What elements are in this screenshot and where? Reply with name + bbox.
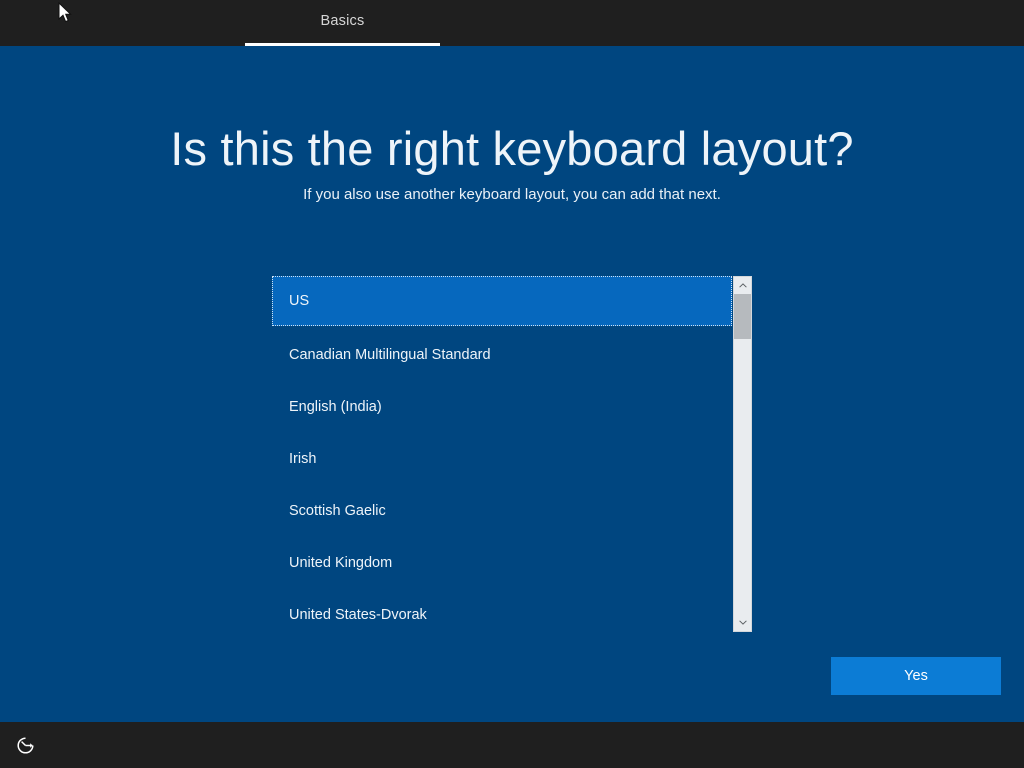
keyboard-layout-listbox[interactable]: US Canadian Multilingual Standard Englis… — [272, 276, 752, 632]
arrow-pointer-cursor — [58, 2, 72, 24]
scroll-down-button[interactable] — [734, 614, 751, 631]
tab-basics[interactable]: Basics — [245, 0, 440, 46]
page-title: Is this the right keyboard layout? — [0, 122, 1024, 176]
scrollbar-thumb[interactable] — [734, 294, 751, 339]
list-item[interactable]: United Kingdom — [272, 538, 732, 588]
list-item[interactable]: United States-Dvorak — [272, 590, 732, 632]
page-subtitle: If you also use another keyboard layout,… — [0, 186, 1024, 203]
tab-strip: Basics — [245, 0, 440, 46]
list-item-label: English (India) — [289, 399, 382, 415]
list-item[interactable]: Canadian Multilingual Standard — [272, 330, 732, 380]
oobe-screen: Basics Is this the right keyboard layout… — [0, 0, 1024, 768]
chevron-down-icon — [739, 620, 747, 625]
bottom-chrome-bar — [0, 722, 1024, 768]
list-item-label: United Kingdom — [289, 555, 392, 571]
list-item-label: Canadian Multilingual Standard — [289, 347, 491, 363]
list-scrollbar[interactable] — [733, 276, 752, 632]
list-item[interactable]: English (India) — [272, 382, 732, 432]
top-chrome-bar: Basics — [0, 0, 1024, 46]
ease-of-access-icon — [16, 736, 35, 755]
list-item[interactable]: Irish — [272, 434, 732, 484]
list-item[interactable]: Scottish Gaelic — [272, 486, 732, 536]
tab-active-underline — [245, 43, 440, 46]
yes-button-label: Yes — [904, 668, 928, 684]
list-item-label: US — [289, 293, 309, 309]
list-item-label: Scottish Gaelic — [289, 503, 386, 519]
list-item-label: Irish — [289, 451, 316, 467]
list-item[interactable]: US — [272, 276, 732, 326]
list-item-label: United States-Dvorak — [289, 607, 427, 623]
list-viewport: US Canadian Multilingual Standard Englis… — [272, 276, 732, 632]
chevron-up-icon — [739, 283, 747, 288]
scroll-up-button[interactable] — [734, 277, 751, 294]
ease-of-access-button[interactable] — [10, 732, 40, 758]
tab-basics-label: Basics — [321, 13, 365, 29]
yes-button[interactable]: Yes — [831, 657, 1001, 695]
